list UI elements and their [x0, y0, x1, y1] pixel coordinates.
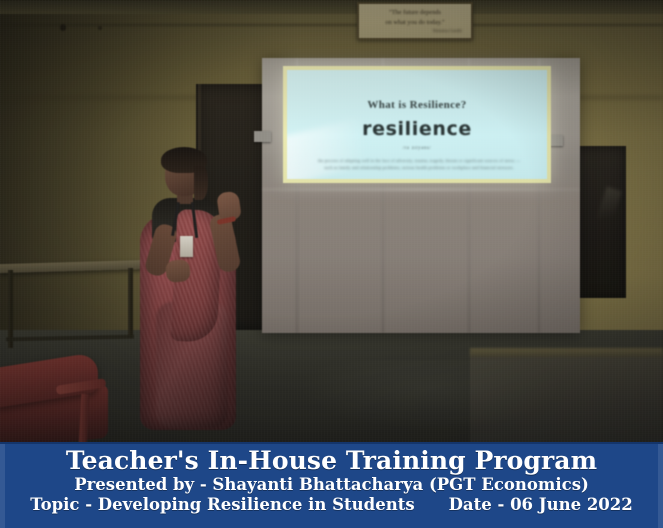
presenter-figure — [130, 152, 246, 430]
wall-nail-secondary — [98, 26, 102, 30]
poster-attribution: Mahatma Gandhi — [364, 28, 466, 33]
banner-topic-date-row: Topic - Developing Resilience in Student… — [0, 496, 663, 515]
training-program-photo: "The future depends on what you do today… — [0, 0, 663, 528]
wall-upper-shadow-band — [0, 0, 663, 14]
banner-date: Date - 06 June 2022 — [449, 496, 633, 515]
wall-nail — [60, 24, 66, 31]
screen-clip-left — [254, 131, 271, 142]
banner-title: Teacher's In-House Training Program — [0, 447, 663, 474]
banner-presented-by: Presented by - Shayanti Bhattacharya (PG… — [0, 476, 663, 495]
banner-edge-right — [658, 444, 663, 528]
banner-edge-left — [0, 444, 5, 528]
slide-pronunciation: /rəˈzilyəns/ — [287, 146, 547, 151]
floor-light-reflection — [300, 360, 560, 430]
screen-cloth-crease — [262, 188, 580, 191]
slide-content-area: What is Resilience? resilience /rəˈzilyə… — [287, 70, 547, 179]
wall-baseboard — [470, 348, 663, 357]
caption-banner: Teacher's In-House Training Program Pres… — [0, 442, 663, 528]
slide-body-text: the process of adapting well in the face… — [317, 158, 521, 172]
projected-slide: What is Resilience? resilience /rəˈzilyə… — [283, 66, 551, 183]
presenter-hair-side — [194, 166, 208, 200]
wall-poster-quote: "The future depends on what you do today… — [357, 2, 473, 40]
poster-line-2: on what you do today." — [364, 18, 466, 28]
poster-line-1: "The future depends — [364, 8, 466, 18]
banner-topic: Topic - Developing Resilience in Student… — [30, 496, 414, 515]
presenter-id-badge — [180, 236, 193, 257]
foreground-red-chair — [0, 360, 122, 444]
slide-heading: What is Resilience? — [287, 99, 547, 111]
slide-keyword: resilience — [287, 118, 547, 140]
